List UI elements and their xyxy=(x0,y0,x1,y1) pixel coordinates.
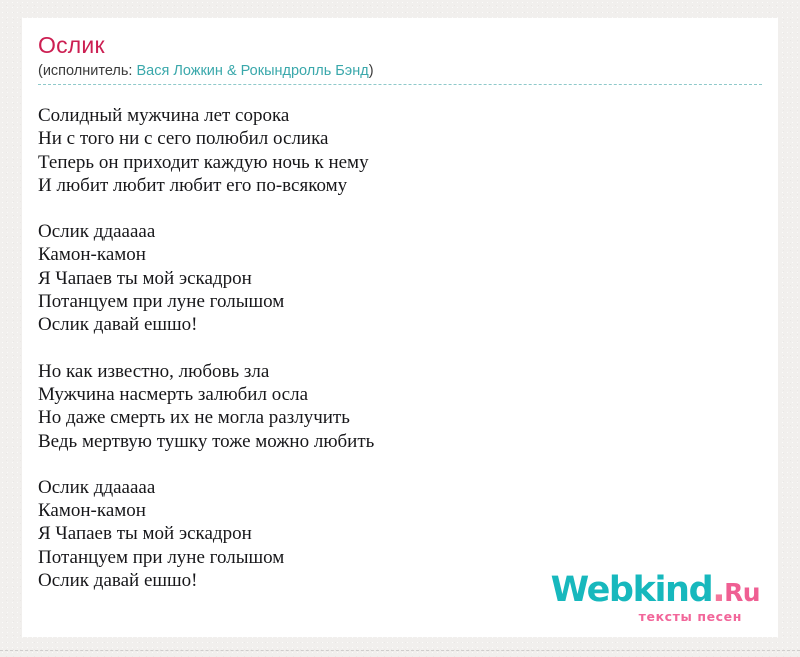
site-logo[interactable]: Webkind.Ru тексты песен xyxy=(551,573,760,624)
logo-part-web: Web xyxy=(551,570,633,610)
lyrics-line: Ведь мертвую тушку тоже можно любить xyxy=(38,430,762,453)
lyrics-body: Солидный мужчина лет сорокаНи с того ни … xyxy=(38,93,762,592)
page-bottom-divider xyxy=(0,650,800,651)
performer-line: (исполнитель: Вася Ложкин & Рокындролль … xyxy=(38,59,762,81)
page-title: Ослик xyxy=(38,32,762,59)
logo-part-ind: ind xyxy=(654,570,712,610)
logo-part-dot: . xyxy=(712,570,724,610)
card-inner: Ослик (исполнитель: Вася Ложкин & Рокынд… xyxy=(38,32,762,637)
logo-part-ru: Ru xyxy=(724,578,760,607)
lyrics-line: Я Чапаев ты мой эскадрон xyxy=(38,267,762,290)
site-logo-tagline: тексты песен xyxy=(551,611,742,624)
lyrics-line: Солидный мужчина лет сорока xyxy=(38,104,762,127)
header-divider xyxy=(38,84,762,85)
lyrics-line: Теперь он приходит каждую ночь к нему xyxy=(38,151,762,174)
lyrics-line: И любит любит любит его по-всякому xyxy=(38,174,762,197)
lyrics-line: Камон-камон xyxy=(38,499,762,522)
performer-prefix-label: (исполнитель: xyxy=(38,63,136,79)
lyrics-line: Ослик ддааааа xyxy=(38,476,762,499)
lyrics-stanza: Солидный мужчина лет сорокаНи с того ни … xyxy=(38,104,762,197)
lyrics-stanza: Ослик ддаааааКамон-камонЯ Чапаев ты мой … xyxy=(38,220,762,336)
logo-part-k: k xyxy=(633,570,655,610)
lyrics-line: Ослик ддааааа xyxy=(38,220,762,243)
content-card: Ослик (исполнитель: Вася Ложкин & Рокынд… xyxy=(22,18,778,637)
performer-suffix-label: ) xyxy=(369,63,374,79)
lyrics-line: Ни с того ни с сего полюбил ослика xyxy=(38,127,762,150)
lyrics-line: Потанцуем при луне голышом xyxy=(38,290,762,313)
lyrics-line: Ослик давай ешшо! xyxy=(38,313,762,336)
lyrics-line: Камон-камон xyxy=(38,243,762,266)
lyrics-line: Но даже смерть их не могла разлучить xyxy=(38,406,762,429)
lyrics-line: Я Чапаев ты мой эскадрон xyxy=(38,522,762,545)
lyrics-line: Потанцуем при луне голышом xyxy=(38,546,762,569)
performer-link[interactable]: Вася Ложкин & Рокындролль Бэнд xyxy=(136,63,368,79)
lyrics-line: Но как известно, любовь зла xyxy=(38,360,762,383)
site-logo-wordmark: Webkind.Ru xyxy=(551,573,760,610)
lyrics-stanza: Но как известно, любовь злаМужчина насме… xyxy=(38,360,762,453)
lyrics-line: Мужчина насмерть залюбил осла xyxy=(38,383,762,406)
